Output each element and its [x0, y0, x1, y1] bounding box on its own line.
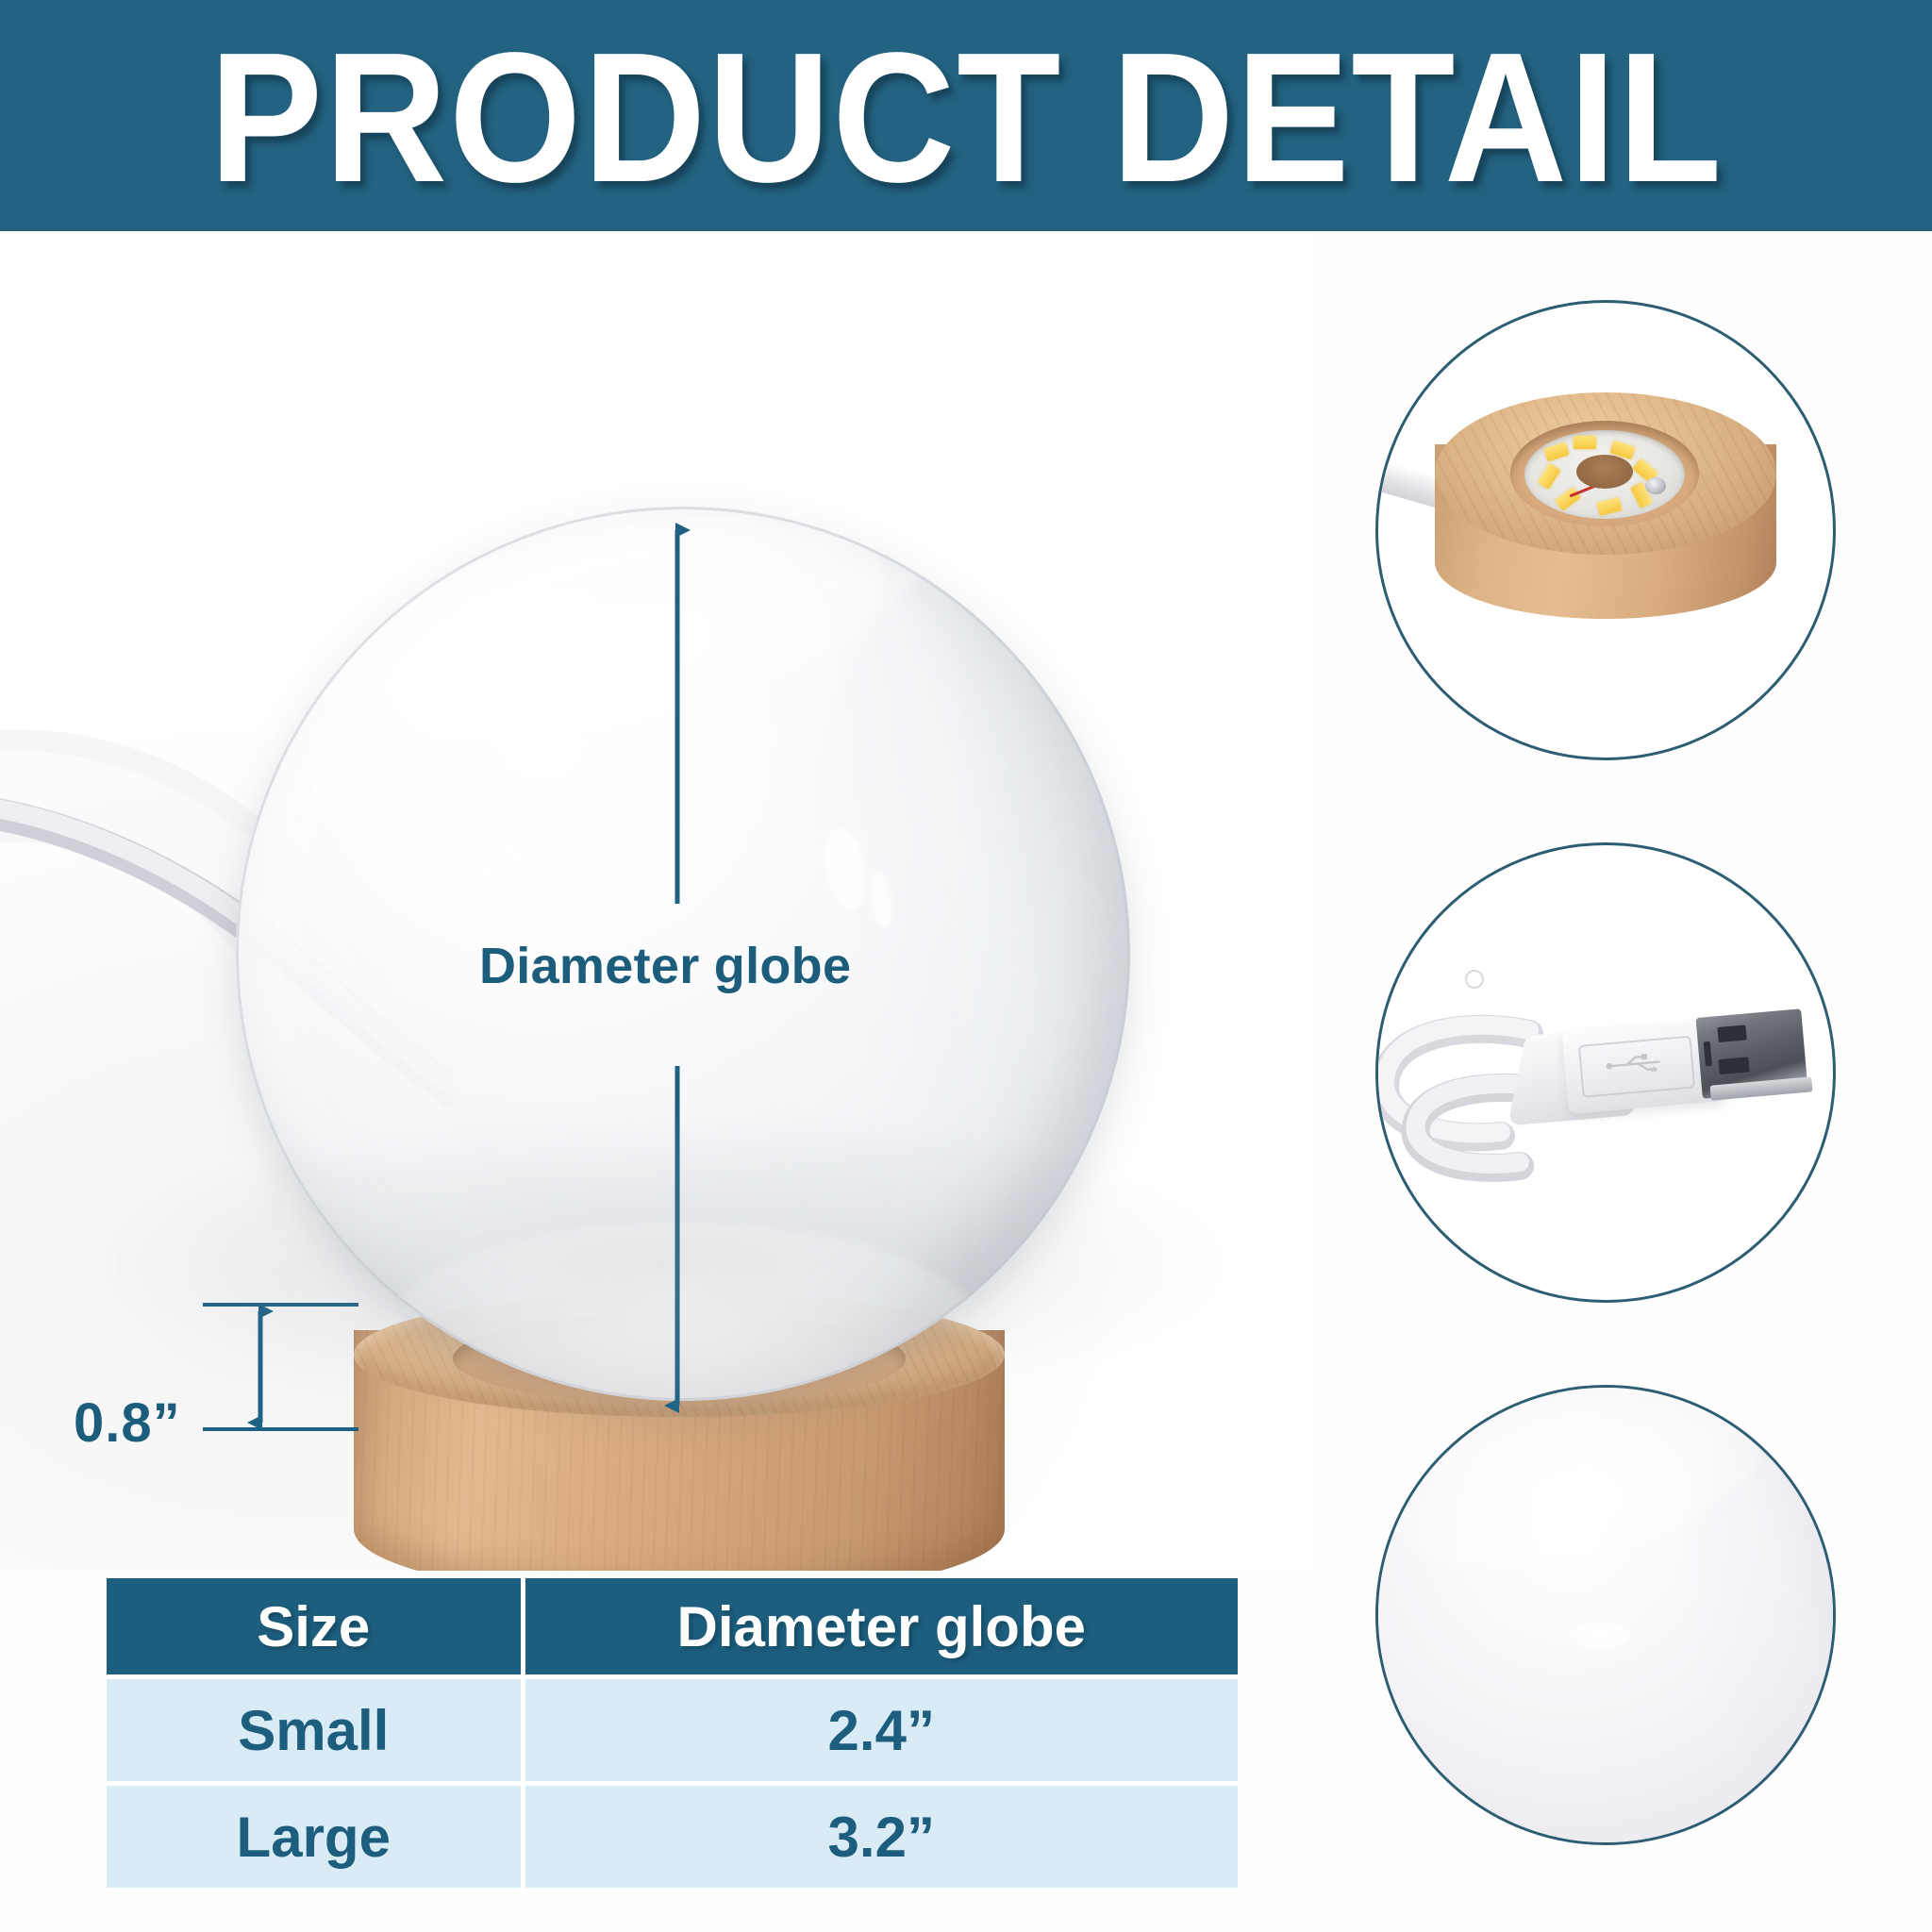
table-header-diameter: Diameter globe: [523, 1578, 1238, 1677]
inset-crystal-ball-surface: [1375, 1385, 1836, 1845]
inset-usb-connector: [1375, 842, 1836, 1303]
table-row: Small 2.4”: [107, 1677, 1238, 1784]
base-height-label: 0.8”: [74, 1391, 181, 1455]
led-chip: [1597, 497, 1623, 515]
inset-led-wooden-base: [1375, 300, 1836, 760]
page-header-banner: PRODUCT DETAIL: [0, 0, 1932, 231]
table-header-size: Size: [107, 1578, 523, 1677]
page-title: PRODUCT DETAIL: [208, 30, 1723, 206]
wooden-base-body: [354, 1330, 1005, 1571]
cell-diameter-large: 3.2”: [523, 1784, 1238, 1889]
led-chip: [1538, 463, 1561, 490]
usb-cable-graphic: [1378, 845, 1833, 1300]
usb-contact-slot: [1717, 1024, 1746, 1042]
cell-size-small: Small: [107, 1677, 523, 1784]
usb-contact-slot: [1718, 1057, 1749, 1074]
usb-contact-slot: [1704, 1041, 1712, 1067]
wooden-base-top-face: [354, 1292, 1005, 1417]
closeup-specular-point: [1569, 1622, 1631, 1650]
wooden-base-recess: [453, 1313, 906, 1404]
table-header-row: Size Diameter globe: [107, 1578, 1238, 1677]
led-screw-icon: [1645, 477, 1666, 494]
wooden-base: [354, 1292, 1005, 1571]
cell-size-large: Large: [107, 1784, 523, 1889]
led-center-hole: [1576, 455, 1633, 489]
size-table: Size Diameter globe Small 2.4” Large 3.2…: [107, 1578, 1238, 1888]
led-chip: [1543, 442, 1569, 462]
crystal-ball-closeup: [1375, 1385, 1836, 1845]
table-row: Large 3.2”: [107, 1784, 1238, 1889]
led-chip: [1574, 436, 1596, 449]
product-photo-stage: Diameter globe 0.8” 3.2”: [0, 231, 1311, 1571]
cell-diameter-small: 2.4”: [523, 1677, 1238, 1784]
led-base-graphic: [1435, 392, 1776, 675]
globe-bottom-glow: [379, 1222, 988, 1401]
product-detail-page: PRODUCT DETAIL: [0, 0, 1932, 1932]
diameter-globe-label: Diameter globe: [479, 937, 851, 995]
